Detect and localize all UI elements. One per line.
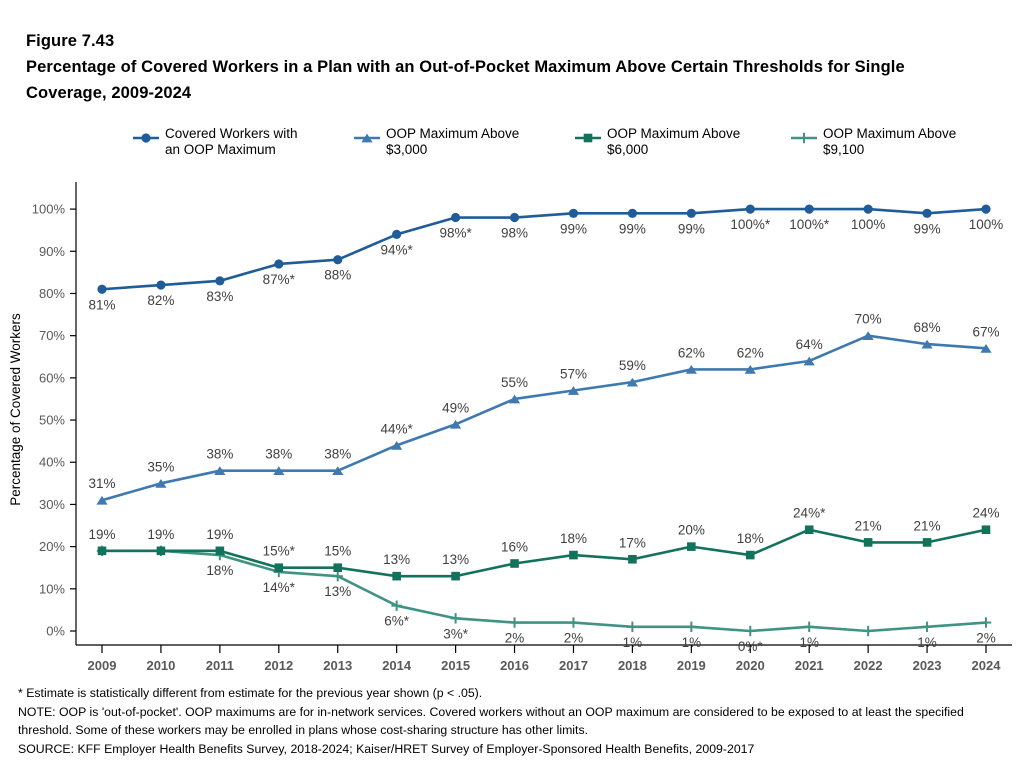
square-marker (392, 572, 401, 581)
legend-item-3[interactable]: OOP Maximum Above $6,000 (574, 126, 784, 158)
chart-legend: Covered Workers with an OOP MaximumOOP M… (132, 126, 1012, 158)
data-point-label: 18% (206, 563, 233, 578)
data-point-label: 21% (914, 518, 941, 533)
plus-marker (450, 613, 460, 623)
data-point-label: 38% (265, 447, 292, 462)
data-point-label: 1% (917, 635, 937, 650)
square-marker (746, 551, 755, 560)
data-point-label: 99% (560, 221, 587, 236)
triangle-marker (391, 441, 402, 450)
data-point-label: 98% (501, 226, 528, 241)
data-point-label: 13% (383, 552, 410, 567)
data-point-label: 19% (147, 527, 174, 542)
data-point-label: 83% (206, 289, 233, 304)
page-title: Percentage of Covered Workers in a Plan … (26, 54, 946, 106)
square-marker (923, 538, 932, 547)
legend-item-label: OOP Maximum Above $3,000 (386, 126, 519, 158)
data-point-label: 59% (619, 358, 646, 373)
circle-marker (132, 127, 160, 147)
circle-marker (451, 213, 460, 222)
figure-container: Figure 7.43 Percentage of Covered Worker… (0, 0, 1024, 770)
x-tick-label: 2011 (206, 658, 234, 670)
data-point-label: 55% (501, 375, 528, 390)
square-marker (864, 538, 873, 547)
y-tick-label: 70% (39, 328, 65, 343)
y-tick-label: 40% (39, 455, 65, 470)
x-tick-label: 2021 (795, 658, 824, 670)
square-marker (275, 563, 284, 572)
data-point-label: 38% (206, 447, 233, 462)
data-point-label: 82% (147, 293, 174, 308)
circle-marker (215, 276, 224, 285)
legend-item-label: Covered Workers with an OOP Maximum (165, 126, 298, 158)
x-tick-label: 2013 (323, 658, 352, 670)
data-point-label: 1% (799, 635, 819, 650)
data-point-label: 13% (324, 584, 351, 599)
data-point-label: 15%* (263, 544, 296, 559)
data-point-label: 44%* (381, 421, 414, 436)
circle-marker (97, 285, 106, 294)
circle-marker (746, 204, 755, 213)
x-tick-label: 2014 (382, 658, 412, 670)
data-point-label: 62% (678, 345, 705, 360)
square-marker (157, 547, 166, 556)
title-block: Figure 7.43 Percentage of Covered Worker… (26, 28, 986, 106)
legend-item-label: OOP Maximum Above $6,000 (607, 126, 740, 158)
y-tick-label: 100% (32, 202, 66, 217)
data-point-label: 2% (976, 631, 996, 646)
data-point-label: 2% (505, 631, 525, 646)
data-point-label: 3%* (443, 626, 469, 641)
circle-marker (981, 204, 990, 213)
data-point-label: 100% (851, 217, 886, 232)
plus-marker (863, 626, 873, 636)
data-point-label: 68% (914, 320, 941, 335)
footnote-note: NOTE: OOP is 'out-of-pocket'. OOP maximu… (18, 703, 1008, 740)
footnote-significance: * Estimate is statistically different fr… (18, 684, 1008, 703)
square-marker (687, 542, 696, 551)
circle-marker (922, 209, 931, 218)
plus-marker (391, 600, 401, 610)
circle-marker (864, 204, 873, 213)
square-marker (216, 547, 225, 556)
data-point-label: 99% (619, 221, 646, 236)
circle-marker (156, 280, 165, 289)
circle-marker (805, 204, 814, 213)
data-point-label: 13% (442, 552, 469, 567)
circle-marker (274, 259, 283, 268)
data-point-label: 62% (737, 345, 764, 360)
plus-marker (790, 127, 818, 147)
data-point-label: 0%* (738, 639, 764, 654)
y-tick-label: 10% (39, 581, 65, 596)
data-point-label: 81% (88, 297, 115, 312)
x-axis-ticks: 2009201020112012201320142015201620172018… (88, 645, 1002, 670)
x-tick-label: 2022 (854, 658, 883, 670)
circle-marker (333, 255, 342, 264)
series-3-labels: 19%19%19%15%*15%13%13%16%18%17%20%18%24%… (88, 506, 999, 567)
data-point-label: 6%* (384, 614, 410, 629)
data-point-label: 15% (324, 544, 351, 559)
data-point-label: 1% (682, 635, 702, 650)
data-point-label: 99% (678, 221, 705, 236)
series-4-labels: 18%14%*13%6%*3%*2%2%1%1%0%*1%1%2% (206, 563, 995, 654)
square-marker (510, 559, 519, 568)
plus-marker (333, 571, 343, 581)
y-tick-label: 60% (39, 370, 65, 385)
data-point-label: 18% (737, 531, 764, 546)
plus-marker (686, 622, 696, 632)
data-point-label: 100%* (730, 217, 771, 232)
square-marker (569, 551, 578, 560)
plus-marker (509, 617, 519, 627)
y-axis-title: Percentage of Covered Workers (8, 313, 23, 506)
plus-marker (627, 622, 637, 632)
y-tick-label: 80% (39, 286, 65, 301)
square-marker (574, 127, 602, 147)
data-point-label: 19% (88, 527, 115, 542)
y-tick-label: 0% (46, 624, 65, 639)
data-point-label: 94%* (381, 242, 414, 257)
circle-marker (569, 209, 578, 218)
triangle-marker (353, 127, 381, 147)
square-marker (982, 525, 991, 534)
y-axis-ticks: 0%10%20%30%40%50%60%70%80%90%100% (32, 202, 76, 639)
data-point-label: 70% (855, 312, 882, 327)
data-point-label: 21% (855, 518, 882, 533)
y-tick-label: 30% (39, 497, 65, 512)
plus-marker (745, 626, 755, 636)
data-point-label: 38% (324, 447, 351, 462)
x-tick-label: 2009 (88, 658, 117, 670)
circle-marker (141, 133, 150, 142)
data-point-label: 99% (914, 221, 941, 236)
data-point-label: 100%* (789, 217, 830, 232)
x-tick-label: 2010 (146, 658, 175, 670)
x-tick-label: 2024 (972, 658, 1002, 670)
y-tick-label: 50% (39, 413, 65, 428)
series-2 (96, 331, 991, 504)
data-point-label: 57% (560, 367, 587, 382)
x-tick-label: 2015 (441, 658, 470, 670)
circle-marker (628, 209, 637, 218)
data-point-label: 67% (972, 324, 999, 339)
x-tick-label: 2020 (736, 658, 765, 670)
footnote-source: SOURCE: KFF Employer Health Benefits Sur… (18, 740, 1008, 759)
x-tick-label: 2012 (264, 658, 293, 670)
data-point-label: 98%* (439, 226, 472, 241)
square-marker (628, 555, 637, 564)
data-point-label: 64% (796, 337, 823, 352)
legend-item-2[interactable]: OOP Maximum Above $3,000 (353, 126, 568, 158)
square-marker (584, 134, 593, 143)
circle-marker (392, 230, 401, 239)
square-marker (98, 547, 107, 556)
data-point-label: 16% (501, 539, 528, 554)
circle-marker (510, 213, 519, 222)
data-point-label: 35% (147, 459, 174, 474)
legend-item-4[interactable]: OOP Maximum Above $9,100 (790, 126, 1005, 158)
data-point-label: 19% (206, 527, 233, 542)
data-point-label: 1% (623, 635, 643, 650)
plus-marker (799, 133, 809, 143)
x-tick-label: 2016 (500, 658, 529, 670)
square-marker (451, 572, 460, 581)
data-point-label: 18% (560, 531, 587, 546)
legend-item-1[interactable]: Covered Workers with an OOP Maximum (132, 126, 347, 158)
figure-number: Figure 7.43 (26, 28, 986, 54)
data-point-label: 24%* (793, 506, 826, 521)
square-marker (333, 563, 342, 572)
x-tick-label: 2017 (559, 658, 588, 670)
data-point-label: 24% (972, 506, 999, 521)
data-point-label: 2% (564, 631, 584, 646)
data-point-label: 49% (442, 400, 469, 415)
y-tick-label: 90% (39, 244, 65, 259)
plus-marker (981, 617, 991, 627)
data-point-label: 87%* (263, 272, 296, 287)
x-tick-label: 2018 (618, 658, 647, 670)
data-point-label: 20% (678, 523, 705, 538)
square-marker (805, 525, 814, 534)
legend-item-label: OOP Maximum Above $9,100 (823, 126, 956, 158)
data-point-label: 88% (324, 268, 351, 283)
line-chart: 0%10%20%30%40%50%60%70%80%90%100%Percent… (0, 170, 1024, 670)
data-point-label: 14%* (263, 580, 296, 595)
plus-marker (568, 617, 578, 627)
series-1-labels: 81%82%83%87%*88%94%*98%*98%99%99%99%100%… (88, 217, 1003, 312)
data-point-label: 31% (88, 476, 115, 491)
plus-marker (804, 622, 814, 632)
plus-marker (922, 622, 932, 632)
x-tick-label: 2023 (913, 658, 942, 670)
footnotes-block: * Estimate is statistically different fr… (18, 684, 1008, 758)
x-tick-label: 2019 (677, 658, 706, 670)
data-point-label: 17% (619, 535, 646, 550)
y-tick-label: 20% (39, 539, 65, 554)
circle-marker (687, 209, 696, 218)
data-point-label: 100% (969, 217, 1004, 232)
